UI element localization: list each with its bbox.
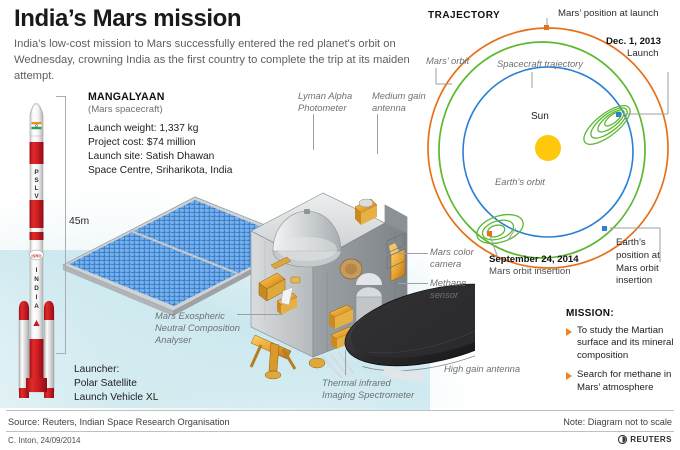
india-flag-marking	[32, 122, 42, 129]
spacecraft-specs: Launch weight: 1,337 kg Project cost: $7…	[88, 122, 232, 178]
mission-item: Search for methane in Mars’ atmosphere	[566, 369, 678, 394]
isro-logo: ISRO	[30, 250, 44, 260]
mission-list: To study the Martian surface and its min…	[566, 325, 678, 394]
leader-thermal-ir	[345, 350, 346, 375]
reuters-wordmark: REUTERS	[630, 435, 672, 444]
footer-note: Note: Diagram not to scale	[563, 417, 672, 427]
footer-rule-bottom	[6, 431, 674, 432]
svg-text:D: D	[34, 285, 39, 292]
mission-box: MISSION: To study the Martian surface an…	[566, 308, 678, 401]
svg-text:N: N	[34, 276, 39, 283]
footer-source: Source: Reuters, Indian Space Research O…	[8, 417, 230, 427]
callout-mars-color-camera: Mars color camera	[430, 246, 494, 270]
sun-marker	[535, 135, 561, 161]
footer-rule-top	[6, 410, 674, 411]
spec-line: Launch weight: 1,337 kg	[88, 122, 232, 136]
launcher-line: Polar Satellite	[74, 377, 158, 391]
leader-lyman-alpha	[313, 114, 314, 150]
header: India’s Mars mission India's low-cost mi…	[14, 6, 434, 85]
svg-text:L: L	[35, 185, 39, 192]
callout-high-gain-antenna: High gain antenna	[444, 363, 520, 375]
callout-methane-sensor: Methane sensor	[430, 277, 494, 301]
spec-line: Project cost: $74 million	[88, 136, 232, 150]
mission-item-text: To study the Martian surface and its min…	[577, 325, 674, 361]
leader-medium-gain	[377, 114, 378, 154]
svg-text:S: S	[34, 177, 39, 184]
earth-position-at-launch-marker	[616, 112, 621, 117]
earth-position-at-insertion-marker	[602, 226, 607, 231]
callout-lyman-alpha-photometer: Lyman Alpha Photometer	[298, 90, 370, 114]
spec-line: Launch site: Satish Dhawan	[88, 150, 232, 164]
reuters-logo: REUTERS	[618, 435, 672, 444]
mars-position-at-launch-marker	[544, 25, 549, 30]
callout-mencra: Mars Exospheric Neutral Composition Anal…	[155, 310, 285, 345]
svg-text:I: I	[36, 267, 38, 274]
svg-text:ISRO: ISRO	[31, 254, 42, 259]
page-subtitle: India's low-cost mission to Mars success…	[14, 37, 434, 85]
insertion-date-label: September 24, 2014	[489, 254, 579, 267]
earth-departure-spiral	[578, 99, 636, 151]
mission-item-text: Search for methane in Mars’ atmosphere	[577, 369, 671, 392]
leader-mars-color-camera	[398, 253, 428, 254]
launcher-line: Launcher:	[74, 363, 158, 377]
callout-medium-gain-antenna: Medium gain antenna	[372, 90, 442, 114]
mars-orbit-insertion-marker	[487, 231, 492, 236]
insertion-event-label: Mars orbit insertion	[489, 266, 571, 279]
spec-line: Space Centre, Sriharikota, India	[88, 164, 232, 178]
svg-text:A: A	[34, 303, 39, 310]
reuters-mark-icon	[618, 435, 627, 444]
launcher-caption: Launcher: Polar Satellite Launch Vehicle…	[74, 363, 158, 405]
launch-date-label: Dec. 1, 2013	[606, 36, 661, 49]
mars-position-at-launch-label: Mars’ position at launch	[558, 8, 658, 21]
mars-capture-spiral	[473, 209, 527, 249]
svg-text:V: V	[34, 193, 39, 200]
svg-text:I: I	[36, 294, 38, 301]
launcher-line: Launch Vehicle XL	[74, 391, 158, 405]
spacecraft-name: MANGALYAAN	[88, 91, 232, 103]
footer-credit: C. Inton, 24/09/2014	[8, 436, 81, 445]
infographic-page: India’s Mars mission India's low-cost mi…	[0, 0, 680, 450]
svg-text:P: P	[34, 169, 39, 176]
rocket-height-label: 45m	[69, 216, 89, 227]
trajectory-title: TRAJECTORY	[428, 10, 500, 21]
sun-label: Sun	[531, 110, 549, 123]
spacecraft-spec-block: MANGALYAAN (Mars spacecraft) Launch weig…	[88, 91, 232, 178]
callout-thermal-ir-spectrometer: Thermal infrared Imaging Spectrometer	[322, 377, 442, 401]
triangle-bullet-icon	[566, 328, 572, 336]
earth-orbit-label: Earth’s orbit	[495, 176, 545, 188]
triangle-bullet-icon	[566, 372, 572, 380]
mission-item: To study the Martian surface and its min…	[566, 325, 678, 362]
page-title: India’s Mars mission	[14, 6, 434, 32]
spacecraft-subtitle: (Mars spacecraft)	[88, 104, 232, 115]
spacecraft-trajectory-label: Spacecraft trajectory	[497, 58, 583, 70]
earth-position-at-insertion-label: Earth’s position at Mars orbit insertion	[616, 237, 678, 288]
mission-heading: MISSION:	[566, 308, 678, 319]
leader-methane-sensor	[398, 283, 428, 284]
launch-word-label: Launch	[627, 48, 658, 61]
